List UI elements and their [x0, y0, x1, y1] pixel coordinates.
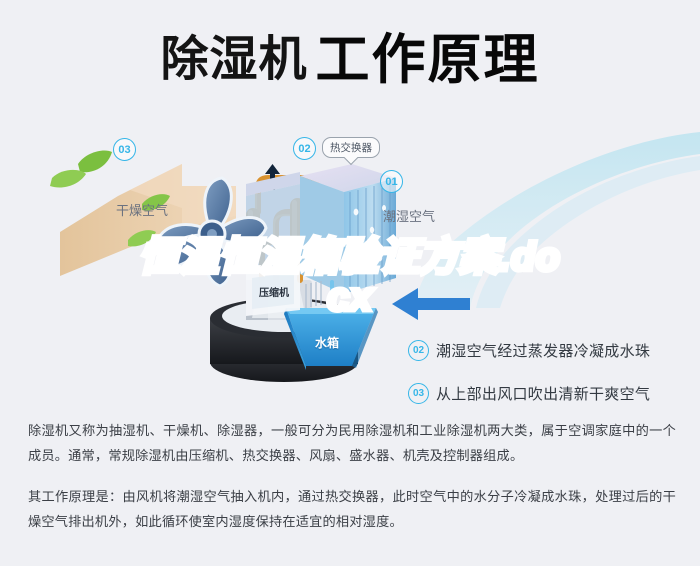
diagram-label-compressor: 压缩机: [259, 284, 289, 299]
legend-item-03: 03 从上部出风口吹出清新干爽空气: [408, 383, 698, 404]
legend-badge-02: 02: [408, 340, 429, 361]
diagram-label-water-tank: 水箱: [315, 334, 339, 351]
legend-item-02: 02 潮湿空气经过蒸发器冷凝成水珠: [408, 340, 698, 361]
page-title: 除湿机 工作原理: [0, 24, 700, 96]
diagram-badge-02: 02: [293, 137, 316, 160]
article-body: 除湿机又称为抽湿机、干燥机、除湿器，一般可分为民用除湿机和工业除湿机两大类，属于…: [28, 418, 676, 534]
legend-badge-03: 03: [408, 383, 429, 404]
page-root: 除湿机 工作原理: [0, 0, 700, 566]
legend-list: 01 潮湿空气由风机抽入机内 02 潮湿空气经过蒸发器冷凝成水珠 03 从上部出…: [408, 297, 698, 426]
diagram-label-dry-air: 干燥空气: [116, 200, 168, 219]
page-title-part2: 工作原理: [316, 33, 540, 87]
body-paragraph-2: 其工作原理是：由风机将潮湿空气抽入机内，通过热交换器，此时空气中的水分子冷凝成水…: [28, 484, 676, 534]
legend-text-03: 从上部出风口吹出清新干爽空气: [436, 383, 650, 404]
diagram-callout-heat-exchanger: 热交换器: [322, 137, 380, 158]
diagram-badge-03: 03: [113, 138, 136, 161]
diagram-badge-01: 01: [380, 170, 403, 193]
page-title-part1: 除湿机: [160, 36, 307, 84]
legend-text-02: 潮湿空气经过蒸发器冷凝成水珠: [436, 340, 650, 361]
diagram-label-humid-air: 潮湿空气: [383, 206, 435, 225]
body-paragraph-1: 除湿机又称为抽湿机、干燥机、除湿器，一般可分为民用除湿机和工业除湿机两大类，属于…: [28, 418, 676, 468]
